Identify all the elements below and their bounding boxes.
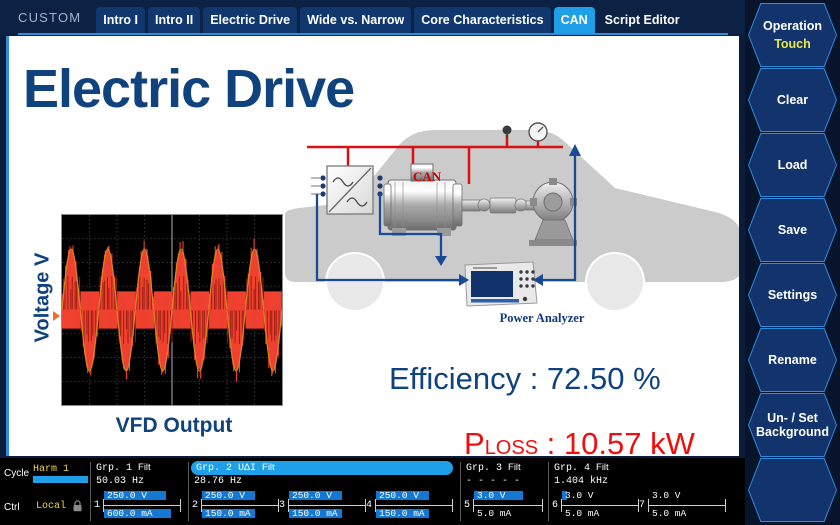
group-filter-label: Filt [596,462,609,473]
channel-number: 6 [552,500,558,511]
meter-value-current: 150.0 mA [205,508,251,519]
load-machine-icon [529,178,577,246]
channel-meter[interactable]: 5 3.0 V 5.0 mA [464,490,543,522]
meter-axis [648,505,726,506]
group-frequency: 28.76 Hz [194,476,242,487]
tab-core-characteristics[interactable]: Core Characteristics [414,7,550,34]
channel-number: 3 [279,500,285,511]
group-filter-label: Filt [508,462,521,473]
group-header[interactable]: Grp. 4 Filt [554,462,609,474]
side-button-rename[interactable]: Rename [749,329,836,391]
side-button-label: Background [756,425,829,439]
scope-y-axis-label: Voltage V [32,228,55,368]
side-button-label: Settings [768,288,817,302]
meter-value-voltage: 250.0 V [379,490,419,501]
tab-script-editor[interactable]: Script Editor [598,7,687,34]
meter-value-voltage: 3.0 V [565,490,594,501]
meter-axis [288,505,366,506]
tab-bar: CUSTOM Intro I Intro II Electric Drive W… [0,0,745,34]
group-filter-label: Filt [262,462,275,473]
cycle-label: Cycle [4,468,29,479]
channel-number: 2 [192,500,198,511]
side-button-settings[interactable]: Settings [749,264,836,326]
side-button-load[interactable]: Load [749,134,836,196]
meter-group: Grp. 4 Filt1.404 kHz 6 3.0 V 5.0 mA 7 [550,458,745,525]
cycle-value[interactable]: Harm 1 [33,464,69,475]
drive-schematic [285,122,739,322]
sensor-icons [503,123,548,141]
power-analyzer-label: Power Analyzer [487,311,597,326]
ploss-prefix: P [464,426,485,456]
tab-bar-underline [18,33,728,35]
group-header[interactable]: Grp. 3 Filt [466,462,521,474]
group-divider [548,462,549,521]
meter-value-current: 150.0 mA [379,508,425,519]
side-button-label: Un- / Set [767,411,818,425]
channel-meter[interactable]: 3 250.0 V 150.0 mA [279,490,366,522]
can-bus-label: CAN [413,169,441,185]
side-button-panel: OperationTouchClearLoadSaveSettingsRenam… [745,0,840,525]
trigger-marker-icon [53,311,60,321]
scope-title-label: VFD Output [49,414,299,438]
side-button-label: Clear [777,93,808,107]
meter-value-voltage: 250.0 V [205,490,245,501]
content-canvas: Electric Drive [6,36,739,456]
channel-meter[interactable]: 4 250.0 V 150.0 mA [366,490,453,522]
meter-axis [473,505,543,506]
meter-value-current: 5.0 mA [477,508,511,519]
tab-wide-vs-narrow[interactable]: Wide vs. Narrow [300,7,411,34]
side-button-empty[interactable] [749,459,836,521]
meter-value-voltage: 250.0 V [107,490,147,501]
side-button-clear[interactable]: Clear [749,69,836,131]
meter-axis [103,505,181,506]
meter-group: Grp. 1 Filt50.03 Hz 1 250.0 V 600.0 mA [92,458,190,525]
side-button-set-background[interactable]: Un- / SetBackground [749,394,836,456]
custom-label: CUSTOM [18,10,81,34]
channel-meter[interactable]: 1 250.0 V 600.0 mA [94,490,181,522]
meter-value-current: 5.0 mA [565,508,599,519]
channel-number: 4 [366,500,372,511]
meter-value-voltage: 3.0 V [477,490,506,501]
ctrl-label: Ctrl [4,502,20,513]
efficiency-readout: Efficiency : 72.50 % [389,361,661,397]
meter-axis [201,505,279,506]
group-header[interactable]: Grp. 2 UΔI Filt [191,461,453,475]
side-button-operation-touch[interactable]: OperationTouch [749,4,836,66]
meter-axis [561,505,639,506]
channel-number: 1 [94,500,100,511]
channel-meter[interactable]: 6 3.0 V 5.0 mA [552,490,639,522]
shaft-coupling-icon [462,198,536,213]
side-button-label: Save [778,223,807,237]
power-analyzer-icon [465,262,537,306]
group-divider [90,462,91,521]
group-divider [188,462,189,521]
tab-electric-drive[interactable]: Electric Drive [203,7,297,34]
meter-value-current: 5.0 mA [652,508,686,519]
channel-meter[interactable]: 2 250.0 V 150.0 mA [192,490,279,522]
page-title: Electric Drive [23,62,354,116]
group-frequency: 50.03 Hz [96,476,144,487]
meter-group: Grp. 3 Filt- - - - - 5 3.0 V 5.0 mA [462,458,550,525]
meter-value-voltage: 250.0 V [292,490,332,501]
tab-intro-i[interactable]: Intro I [96,7,145,34]
cycle-bar [33,476,88,483]
group-divider [460,462,461,521]
channel-number: 5 [464,500,470,511]
side-button-save[interactable]: Save [749,199,836,261]
side-button-sublabel: Touch [774,37,811,51]
ploss-subscript: LOSS [485,437,538,456]
ctrl-value[interactable]: Local [36,501,66,512]
channel-number: 7 [639,500,645,511]
channel-meter[interactable]: 7 3.0 V 5.0 mA [639,490,726,522]
lock-icon[interactable] [72,500,83,512]
power-loss-readout: PLOSS : 10.57 kW [464,426,695,456]
group-header[interactable]: Grp. 1 Filt [96,462,151,474]
vfd-scope: Voltage V [23,208,293,456]
side-button-label: Rename [768,353,817,367]
meter-value-voltage: 3.0 V [652,490,681,501]
meter-value-current: 150.0 mA [292,508,338,519]
scope-plot-area [61,214,283,406]
group-frequency: 1.404 kHz [554,476,608,487]
group-filter-label: Filt [138,462,151,473]
tab-can[interactable]: CAN [554,7,595,34]
group-frequency: - - - - - [466,476,520,487]
ploss-value-text: : 10.57 kW [538,426,695,456]
meter-group: Grp. 2 UΔI Filt28.76 Hz 2 250.0 V 150.0 … [190,458,462,525]
application-window: CUSTOM Intro I Intro II Electric Drive W… [0,0,840,525]
tab-intro-ii[interactable]: Intro II [148,7,200,34]
side-button-label: Load [778,158,808,172]
status-bar: Cycle Harm 1 Ctrl Local Grp. 1 Filt50.03… [0,458,745,525]
inverter-icon [311,166,383,214]
side-button-label: Operation [763,19,822,33]
meter-axis [375,505,453,506]
meter-value-current: 600.0 mA [107,508,153,519]
